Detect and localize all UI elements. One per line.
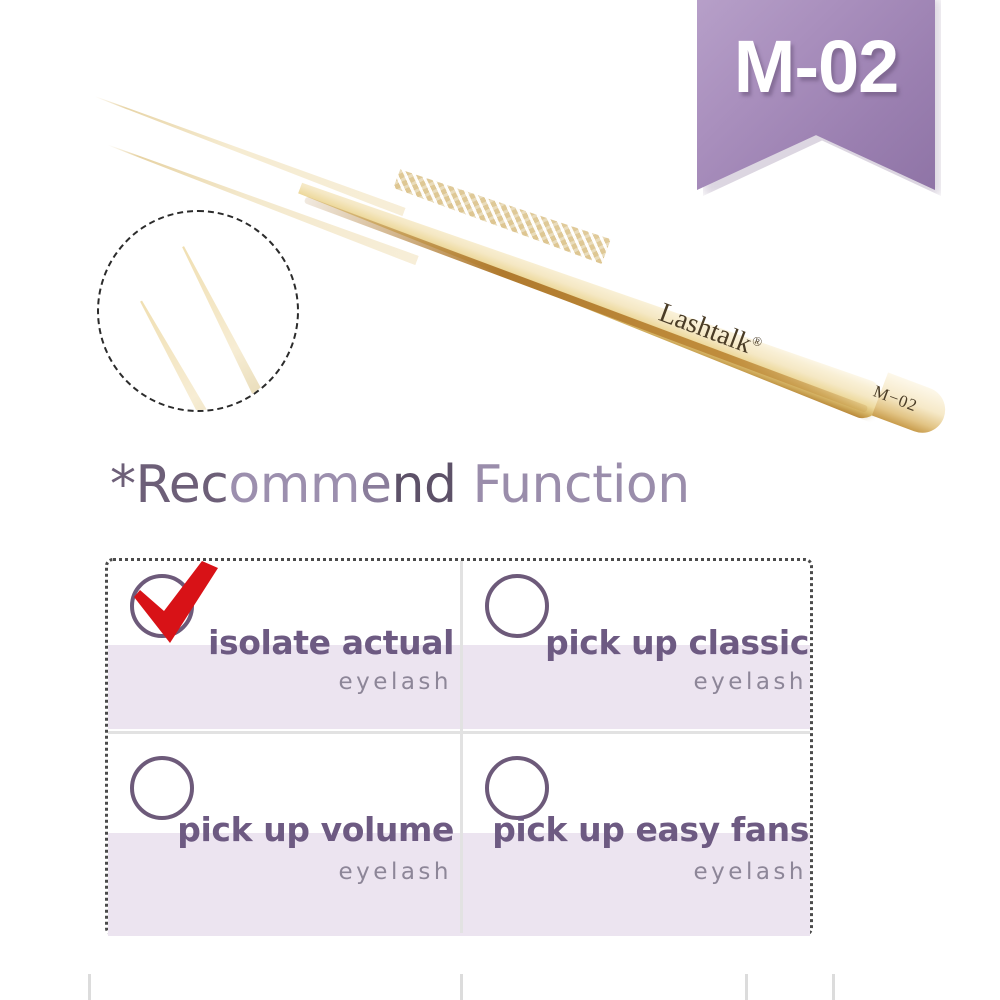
bottom-tick-mark	[88, 974, 91, 1000]
tweezer-knurled-grip	[393, 161, 611, 267]
feature-title: pick up volume	[177, 810, 454, 849]
empty-circle-icon[interactable]	[485, 574, 549, 638]
feature-subtitle: eyelash	[339, 859, 452, 885]
product-image-canvas: M-02 Lashtalk® M−02 *Recommend Function	[0, 0, 1000, 1000]
bottom-tick-mark	[460, 974, 463, 1000]
feature-title: pick up easy fans	[492, 810, 809, 849]
detail-needle-lower	[135, 298, 244, 412]
feature-title: isolate actual	[208, 623, 454, 662]
bottom-tick-mark	[832, 974, 835, 1000]
tweezer-bevel-edge	[304, 196, 868, 413]
feature-option-pick-up-volume[interactable]: pick up volume eyelash	[108, 734, 460, 936]
feature-subtitle: eyelash	[694, 669, 807, 695]
headline-segment: omm	[228, 455, 360, 515]
headline-segment: e	[360, 455, 392, 515]
feature-option-pick-up-classic[interactable]: pick up classic eyelash	[463, 561, 815, 749]
bottom-tick-mark	[745, 974, 748, 1000]
headline-segment: Function	[456, 455, 689, 515]
empty-circle-icon[interactable]	[130, 574, 194, 638]
feature-title: pick up classic	[545, 623, 809, 662]
feature-option-pick-up-easy-fans[interactable]: pick up easy fans eyelash	[463, 734, 815, 936]
feature-option-isolate-actual[interactable]: isolate actual eyelash	[108, 561, 460, 749]
headline-segment: *Rec	[110, 455, 228, 515]
recommend-function-grid: isolate actual eyelash pick up classic e…	[105, 558, 813, 936]
headline-segment: nd	[392, 455, 457, 515]
feature-subtitle: eyelash	[694, 859, 807, 885]
page-title: *Recommend Function	[110, 455, 690, 515]
magnified-tip-detail-circle	[97, 210, 299, 412]
feature-subtitle: eyelash	[339, 669, 452, 695]
